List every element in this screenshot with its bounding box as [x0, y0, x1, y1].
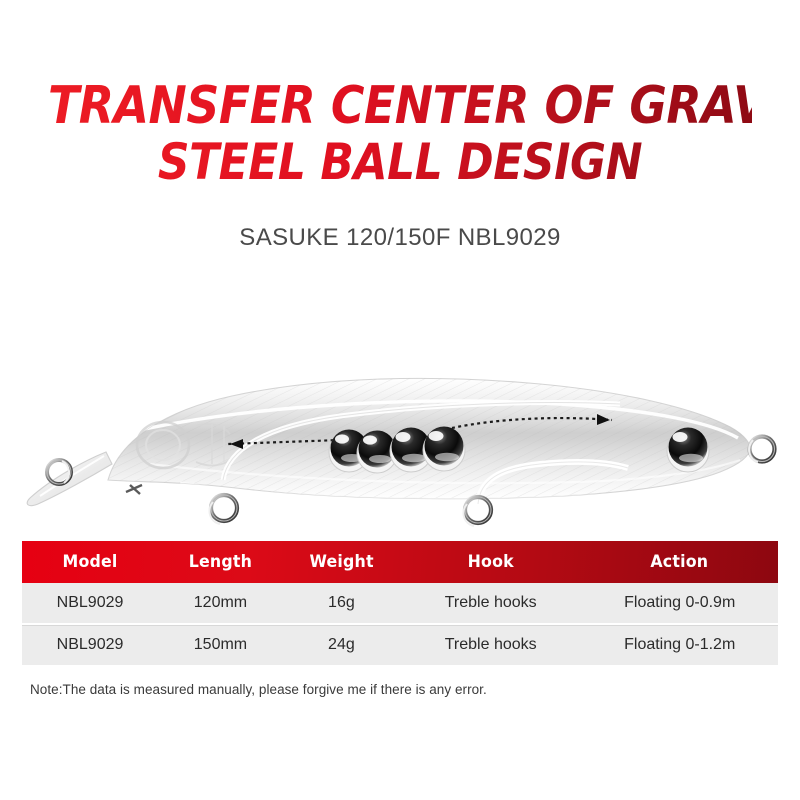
table-row: NBL9029 150mm 24g Treble hooks Floating … [22, 623, 778, 665]
column-header-length: Length [162, 552, 278, 572]
lure-illustration [0, 352, 800, 527]
cell-model: NBL9029 [22, 636, 158, 654]
belly-hook-ring-front [209, 495, 237, 524]
header-block: TRANSFER CENTER OF GRAVITY STEEL BALL DE… [0, 78, 800, 252]
tail-ring [749, 437, 774, 463]
page-title-line-2: STEEL BALL DESIGN [48, 134, 752, 190]
product-subtitle: SASUKE 120/150F NBL9029 [0, 224, 800, 252]
column-header-action: Action [588, 552, 771, 572]
page-title-line-1: TRANSFER CENTER OF GRAVITY [48, 78, 752, 134]
column-header-weight: Weight [287, 552, 396, 572]
cell-hook: Treble hooks [400, 594, 581, 612]
nose-eyelet [126, 485, 142, 494]
measurement-note: Note:The data is measured manually, plea… [30, 682, 487, 697]
spec-table-header-row: Model Length Weight Hook Action [22, 541, 778, 583]
column-header-model: Model [27, 552, 154, 572]
cell-hook: Treble hooks [400, 636, 581, 654]
column-header-hook: Hook [406, 552, 575, 572]
cell-weight: 24g [283, 636, 400, 654]
cell-length: 120mm [158, 594, 283, 612]
spec-table: Model Length Weight Hook Action NBL9029 … [22, 541, 778, 665]
table-row: NBL9029 120mm 16g Treble hooks Floating … [22, 583, 778, 623]
cell-weight: 16g [283, 594, 400, 612]
product-image [0, 352, 800, 527]
cell-action: Floating 0-0.9m [581, 594, 778, 612]
cell-length: 150mm [158, 636, 283, 654]
cell-model: NBL9029 [22, 594, 158, 612]
cell-action: Floating 0-1.2m [581, 636, 778, 654]
